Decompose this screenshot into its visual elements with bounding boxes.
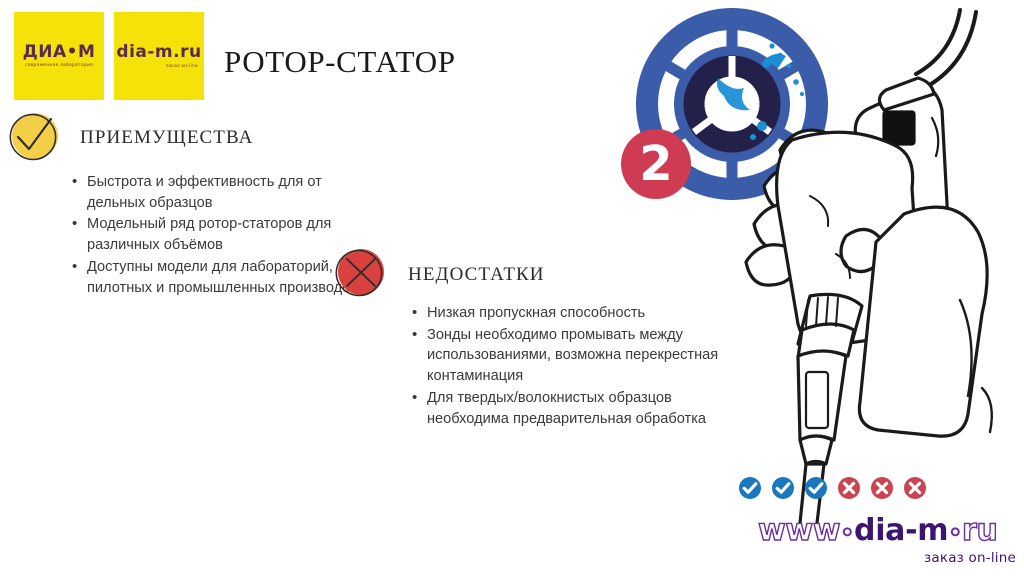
footer-tagline: заказ on-line xyxy=(758,550,1016,566)
page-title: РОТОР-СТАТОР xyxy=(224,44,456,80)
cross-circle-icon xyxy=(903,476,927,500)
slide-root: ДИА•М современная лаборатория dia-m.ru з… xyxy=(0,0,1024,576)
status-icon-row xyxy=(738,476,927,500)
check-circle-icon xyxy=(804,476,828,500)
dia-m-logo-text: ДИА•М xyxy=(23,44,96,61)
disadvantages-heading: НЕДОСТАТКИ xyxy=(408,264,545,286)
dia-m-ru-logo-text: dia-m.ru xyxy=(116,44,201,61)
cross-circle-icon xyxy=(837,476,861,500)
footer-url-text: www◦dia-m◦ru xyxy=(758,516,1016,546)
advantages-heading: ПРИЕМУЩЕСТВА xyxy=(80,127,253,149)
list-item: Модельный ряд ротор-статоров для различн… xyxy=(72,214,372,255)
url-www: www xyxy=(758,513,840,548)
dia-m-ru-logo-subtext: заказ on-line xyxy=(166,64,198,69)
advantages-list: Быстрота и эффективность для от дельных … xyxy=(72,172,372,299)
hand-holding-homogenizer-illustration xyxy=(660,0,1024,530)
list-item: Доступны модели для лабораторий, пилотны… xyxy=(72,257,372,298)
url-dot: ◦ xyxy=(948,521,962,546)
cross-circle-icon xyxy=(332,246,388,302)
list-item: Быстрота и эффективность для от дельных … xyxy=(72,172,372,213)
url-dot: ◦ xyxy=(840,521,854,546)
footer-url-block[interactable]: www◦dia-m◦ru заказ on-line xyxy=(758,516,1016,566)
check-circle-icon xyxy=(738,476,762,500)
check-circle-icon xyxy=(771,476,795,500)
check-circle-icon xyxy=(6,110,62,166)
dia-m-ru-logo[interactable]: dia-m.ru заказ on-line xyxy=(114,12,204,100)
url-tld: ru xyxy=(962,513,998,548)
cross-circle-icon xyxy=(870,476,894,500)
dia-m-logo[interactable]: ДИА•М современная лаборатория xyxy=(14,12,104,100)
url-brand: dia-m xyxy=(854,513,948,548)
dia-m-logo-subtext: современная лаборатория xyxy=(25,63,93,68)
